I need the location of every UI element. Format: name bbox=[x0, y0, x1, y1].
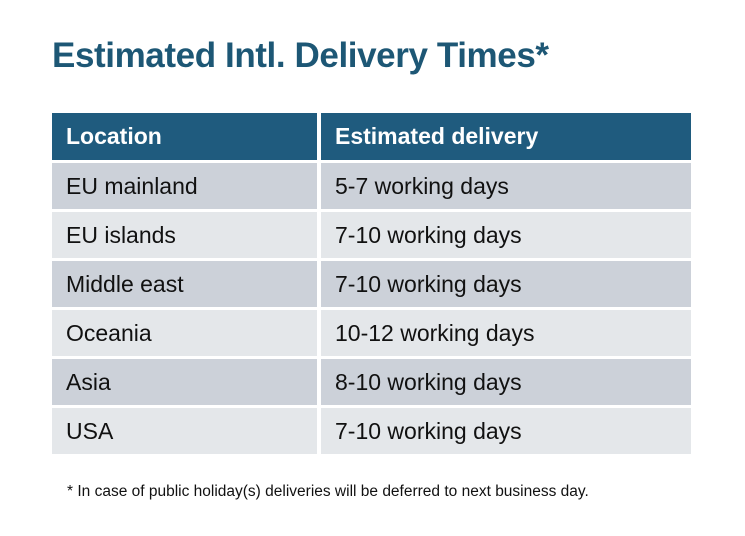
table-row: EU islands 7-10 working days bbox=[52, 212, 691, 258]
cell-location: Oceania bbox=[52, 310, 317, 356]
cell-estimated-delivery: 7-10 working days bbox=[321, 261, 691, 307]
delivery-times-table: Location Estimated delivery EU mainland … bbox=[52, 113, 691, 457]
cell-estimated-delivery: 8-10 working days bbox=[321, 359, 691, 405]
cell-location: Middle east bbox=[52, 261, 317, 307]
cell-location: USA bbox=[52, 408, 317, 454]
cell-location: EU islands bbox=[52, 212, 317, 258]
column-header-location: Location bbox=[52, 113, 317, 160]
table-row: Asia 8-10 working days bbox=[52, 359, 691, 405]
cell-estimated-delivery: 10-12 working days bbox=[321, 310, 691, 356]
column-header-estimated-delivery: Estimated delivery bbox=[321, 113, 691, 160]
cell-location: EU mainland bbox=[52, 163, 317, 209]
table-row: Oceania 10-12 working days bbox=[52, 310, 691, 356]
cell-estimated-delivery: 5-7 working days bbox=[321, 163, 691, 209]
table-header-row: Location Estimated delivery bbox=[52, 113, 691, 160]
cell-estimated-delivery: 7-10 working days bbox=[321, 212, 691, 258]
page-title: Estimated Intl. Delivery Times* bbox=[52, 36, 549, 76]
footnote-text: * In case of public holiday(s) deliverie… bbox=[67, 483, 589, 501]
table-row: Middle east 7-10 working days bbox=[52, 261, 691, 307]
table-row: EU mainland 5-7 working days bbox=[52, 163, 691, 209]
cell-estimated-delivery: 7-10 working days bbox=[321, 408, 691, 454]
cell-location: Asia bbox=[52, 359, 317, 405]
table-row: USA 7-10 working days bbox=[52, 408, 691, 454]
delivery-times-card: Estimated Intl. Delivery Times* Location… bbox=[0, 0, 745, 536]
